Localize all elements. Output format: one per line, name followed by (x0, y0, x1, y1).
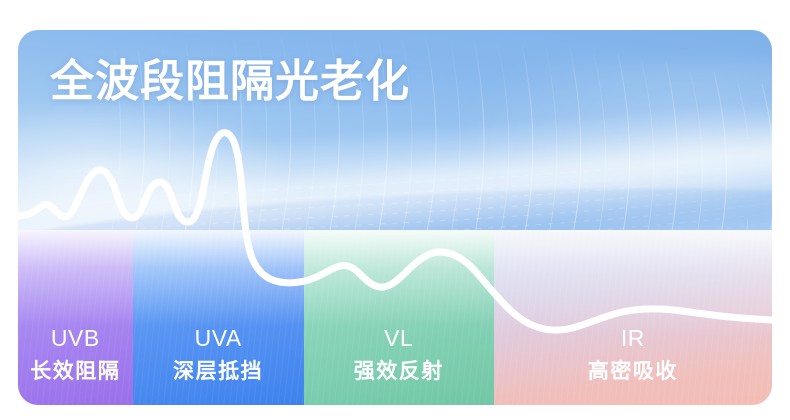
spectrum-band-ir[interactable]: IR 高密吸收 (494, 230, 772, 405)
band-desc-uvb: 长效阻隔 (30, 357, 120, 387)
band-code-ir: IR (588, 323, 678, 353)
spectrum-band-uvb[interactable]: UVB 长效阻隔 (18, 230, 133, 405)
band-code-uvb: UVB (30, 323, 120, 353)
band-desc-uva: 深层抵挡 (173, 357, 263, 387)
band-code-uva: UVA (173, 323, 263, 353)
spectrum-band-vl[interactable]: VL 强效反射 (304, 230, 494, 405)
band-code-vl: VL (354, 323, 444, 353)
banner-stage: UVB 长效阻隔 UVA 深层抵挡 VL 强效反射 (0, 0, 790, 420)
band-desc-ir: 高密吸收 (588, 357, 678, 387)
page-title: 全波段阻隔光老化 (50, 56, 410, 108)
spectrum-band-row: UVB 长效阻隔 UVA 深层抵挡 VL 强效反射 (18, 230, 772, 405)
spectrum-band-uva[interactable]: UVA 深层抵挡 (133, 230, 304, 405)
band-desc-vl: 强效反射 (354, 357, 444, 387)
